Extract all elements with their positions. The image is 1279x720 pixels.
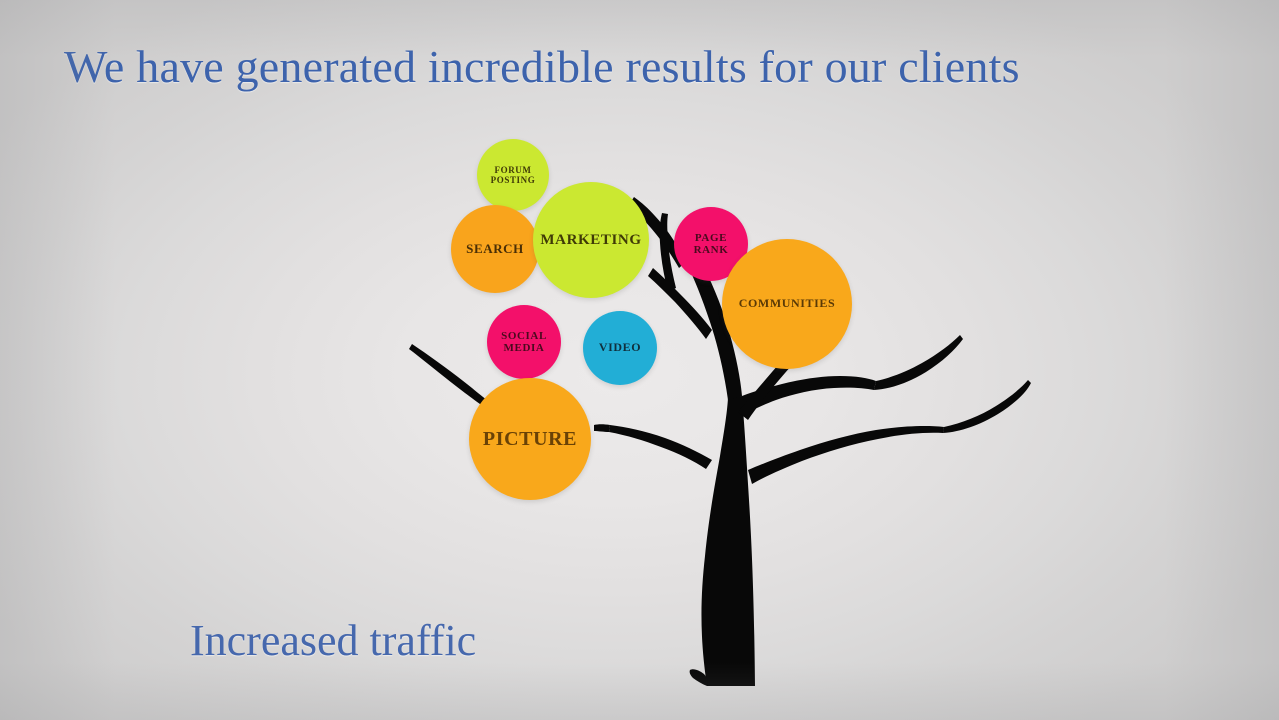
bubble-page-rank-line2: RANK: [694, 244, 729, 256]
bubble-social-media-line1: SOCIAL: [501, 330, 547, 342]
slide-subtitle: Increased traffic: [190, 617, 476, 665]
page-title: We have generated incredible results for…: [64, 42, 1020, 93]
bubble-picture-label: PICTURE: [483, 428, 577, 450]
bubble-page-rank-line1: PAGE: [694, 232, 729, 244]
bubble-search-label: SEARCH: [466, 242, 524, 257]
bubble-social-media-line2: MEDIA: [501, 342, 547, 354]
tree-twig-picture: [594, 424, 610, 432]
slide-canvas: FORUM POSTING SEARCH MARKETING PAGE RANK…: [0, 0, 1279, 720]
tree-root-flare: [690, 669, 708, 686]
bubble-communities[interactable]: COMMUNITIES: [722, 239, 852, 369]
tree-branch-right-tip-lower: [943, 380, 1031, 433]
bubble-video-label: VIDEO: [599, 341, 641, 354]
bubble-marketing-label: MARKETING: [540, 232, 641, 249]
bubble-communities-label: COMMUNITIES: [739, 297, 836, 310]
bubble-forum-posting[interactable]: FORUM POSTING: [477, 139, 549, 211]
bubble-picture[interactable]: PICTURE: [469, 378, 591, 500]
bubble-forum-posting-line1: FORUM: [491, 165, 536, 175]
bubble-video[interactable]: VIDEO: [583, 311, 657, 385]
tree-branch-to-picture: [609, 425, 712, 469]
tree-trunk: [701, 396, 755, 686]
bubble-social-media[interactable]: SOCIAL MEDIA: [487, 305, 561, 379]
tree-twig-detached-left: [409, 344, 487, 406]
bubble-search[interactable]: SEARCH: [451, 205, 539, 293]
tree-limb-right-lower: [748, 426, 944, 484]
bubble-forum-posting-line2: POSTING: [491, 175, 536, 185]
bubble-marketing[interactable]: MARKETING: [533, 182, 649, 298]
tree-branch-right-tip-upper: [874, 335, 963, 390]
